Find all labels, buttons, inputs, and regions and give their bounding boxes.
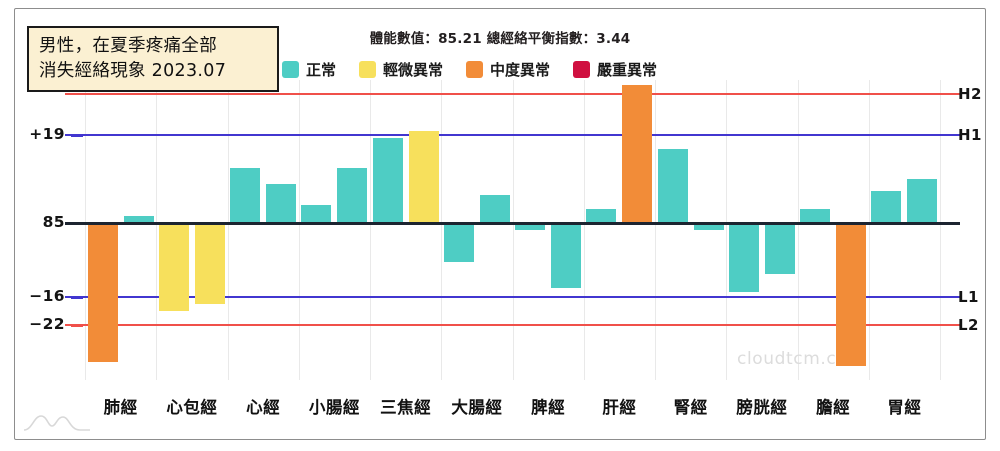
y-axis-tick-label: −22 — [5, 315, 65, 333]
plot-area: H2H1L1L2+1985−16−22肺經心包經心經小腸經三焦經大腸經脾經肝經腎… — [85, 80, 940, 380]
grid-line-vertical — [228, 80, 229, 380]
x-axis-label: 三焦經 — [370, 394, 441, 418]
x-axis-label: 肝經 — [584, 394, 655, 418]
reference-label-h2: H2 — [958, 85, 982, 103]
bar — [301, 205, 331, 223]
grid-line-vertical — [584, 80, 585, 380]
grid-line-vertical — [513, 80, 514, 380]
bar — [551, 223, 581, 288]
bar — [88, 223, 118, 361]
legend-label: 正常 — [306, 59, 336, 80]
callout-line-2: 消失經絡現象 2023.07 — [39, 59, 267, 84]
grid-line-vertical — [798, 80, 799, 380]
legend-item: 中度異常 — [466, 59, 550, 80]
meridian-chart-screenshot: 體能數值：85.21 總經絡平衡指數：3.44 正常輕微異常中度異常嚴重異常 男… — [0, 0, 1000, 451]
wave-logo-icon — [22, 408, 92, 434]
bar — [195, 223, 225, 304]
x-axis-label: 心包經 — [156, 394, 227, 418]
bar — [800, 209, 830, 223]
x-axis-label: 膽經 — [798, 394, 869, 418]
bar — [230, 168, 260, 223]
x-axis-label: 腎經 — [655, 394, 726, 418]
grid-line-vertical — [655, 80, 656, 380]
bar — [622, 85, 652, 223]
grid-line-vertical — [869, 80, 870, 380]
bar — [266, 184, 296, 223]
reference-label-l1: L1 — [958, 288, 979, 306]
y-axis-tick-mark — [71, 296, 83, 299]
baseline-axis — [65, 222, 960, 225]
bar — [373, 138, 403, 223]
grid-line-vertical — [441, 80, 442, 380]
reference-label-h1: H1 — [958, 126, 982, 144]
legend-label: 嚴重異常 — [597, 59, 657, 80]
grid-line-vertical — [156, 80, 157, 380]
bar — [765, 223, 795, 274]
x-axis-label: 胃經 — [869, 394, 940, 418]
x-axis-label: 肺經 — [85, 394, 156, 418]
x-axis-label: 心經 — [228, 394, 299, 418]
legend-swatch-icon — [359, 61, 376, 78]
x-axis-label: 小腸經 — [299, 394, 370, 418]
grid-line-vertical — [726, 80, 727, 380]
bar — [871, 191, 901, 223]
legend-item: 輕微異常 — [359, 59, 443, 80]
y-axis-tick-label: 85 — [5, 213, 65, 231]
bar — [658, 149, 688, 223]
legend-label: 中度異常 — [490, 59, 550, 80]
legend-swatch-icon — [466, 61, 483, 78]
title-callout: 男性，在夏季疼痛全部 消失經絡現象 2023.07 — [27, 26, 279, 92]
callout-line-1: 男性，在夏季疼痛全部 — [39, 34, 267, 59]
legend-item: 正常 — [282, 59, 336, 80]
reference-line-h2 — [65, 93, 960, 95]
bar — [836, 223, 866, 366]
reference-label-l2: L2 — [958, 316, 979, 334]
x-axis-label: 膀胱經 — [726, 394, 797, 418]
y-axis-tick-mark — [71, 134, 83, 137]
y-axis-tick-label: +19 — [5, 125, 65, 143]
x-axis-label: 脾經 — [513, 394, 584, 418]
bar — [907, 179, 937, 223]
reference-line-l2 — [65, 324, 960, 326]
grid-line-vertical — [299, 80, 300, 380]
chart-legend: 正常輕微異常中度異常嚴重異常 — [282, 59, 671, 80]
legend-item: 嚴重異常 — [573, 59, 657, 80]
grid-line-vertical — [940, 80, 941, 380]
bar — [444, 223, 474, 262]
reference-line-h1 — [65, 134, 960, 136]
bar — [159, 223, 189, 311]
bar — [729, 223, 759, 292]
legend-label: 輕微異常 — [383, 59, 443, 80]
y-axis-tick-label: −16 — [5, 287, 65, 305]
x-axis-label: 大腸經 — [441, 394, 512, 418]
bar — [586, 209, 616, 223]
y-axis-tick-mark — [71, 324, 83, 327]
bar — [337, 168, 367, 223]
grid-line-vertical — [370, 80, 371, 380]
legend-swatch-icon — [282, 61, 299, 78]
grid-line-vertical — [85, 80, 86, 380]
bar — [409, 131, 439, 223]
bar — [480, 195, 510, 223]
legend-swatch-icon — [573, 61, 590, 78]
